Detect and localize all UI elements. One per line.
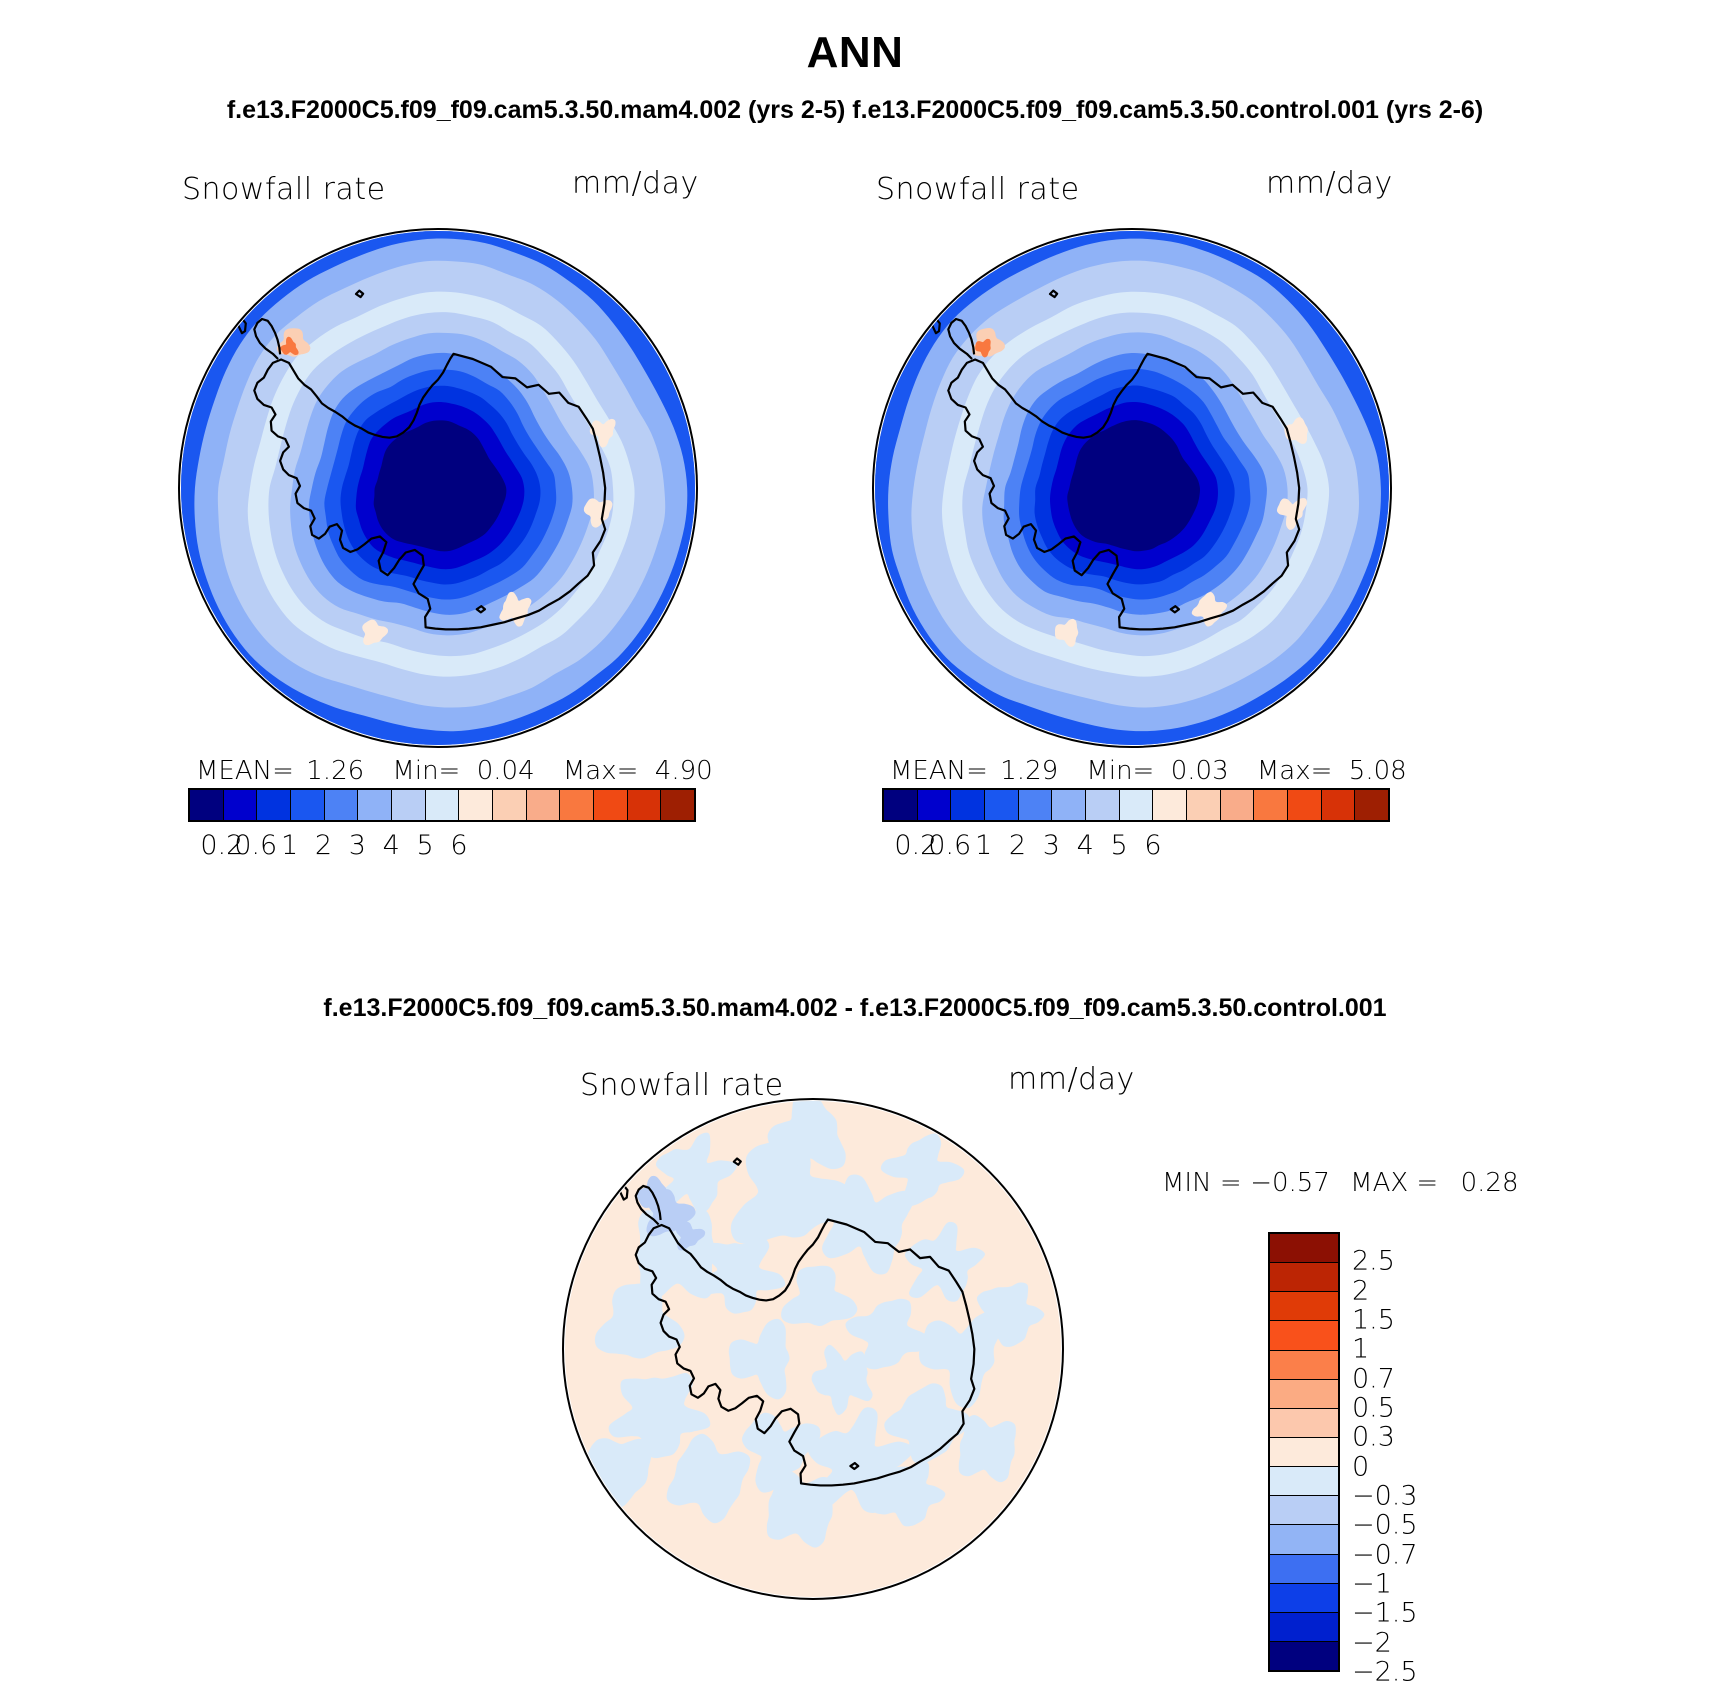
left-min-value: 0.04 [469, 756, 535, 786]
colorbar-swatch [628, 790, 662, 820]
right-max-value: 5.08 [1341, 756, 1407, 786]
colorbar-tick-label: 6 [450, 830, 467, 861]
colorbar-tick-label: 2.5 [1352, 1246, 1395, 1277]
colorbar-swatch [190, 790, 224, 820]
colorbar-swatch [291, 790, 325, 820]
colorbar-swatch [1270, 1555, 1338, 1584]
colorbar-left-labels: 0.20.6123456 [188, 830, 696, 864]
colorbar-tick-label: 0.6 [928, 830, 971, 861]
colorbar-swatch [1270, 1525, 1338, 1554]
colorbar-swatch [426, 790, 460, 820]
colorbar-swatch [493, 790, 527, 820]
colorbar-tick-label: −0.3 [1352, 1481, 1418, 1512]
colorbar-swatch [985, 790, 1019, 820]
colorbar-swatch [257, 790, 291, 820]
colorbar-swatch [1270, 1234, 1338, 1263]
colorbar-swatch [1322, 790, 1356, 820]
colorbar-tick-label: 0.5 [1352, 1393, 1395, 1424]
colorbar-tick-label: 2 [1352, 1275, 1369, 1306]
map-canvas [874, 230, 1390, 746]
colorbar-swatch [1052, 790, 1086, 820]
colorbar-left[interactable] [188, 788, 696, 822]
left-max-label: Max= [563, 756, 639, 786]
colorbar-tick-label: 5 [1110, 830, 1127, 861]
left-min-label: Min= [392, 756, 460, 786]
colorbar-tick-label: −1 [1352, 1569, 1392, 1600]
colorbar-tick-label: 6 [1144, 830, 1161, 861]
colorbar-swatch [1270, 1351, 1338, 1380]
colorbar-right[interactable] [882, 788, 1390, 822]
colorbar-tick-label: 1.5 [1352, 1305, 1395, 1336]
colorbar-tick-label: 0.3 [1352, 1422, 1395, 1453]
right-units-label: mm/day [1266, 166, 1393, 201]
colorbar-swatch [1270, 1292, 1338, 1321]
colorbar-swatch [1270, 1496, 1338, 1525]
right-min-value: 0.03 [1163, 756, 1229, 786]
colorbar-tick-label: 0.6 [234, 830, 277, 861]
colorbar-tick-label: −2.5 [1352, 1657, 1418, 1688]
colorbar-swatch [1187, 790, 1221, 820]
colorbar-tick-label: −1.5 [1352, 1598, 1418, 1629]
colorbar-tick-label: 0.7 [1352, 1363, 1395, 1394]
right-mean-label: MEAN= [890, 756, 988, 786]
right-statistics: MEAN= 1.29 Min= 0.03 Max= 5.08 [890, 756, 1407, 786]
contour-band [959, 1415, 1016, 1482]
colorbar-swatch [594, 790, 628, 820]
colorbar-swatch [884, 790, 918, 820]
colorbar-tick-label: 1 [975, 830, 992, 861]
left-max-value: 4.90 [647, 756, 713, 786]
colorbar-swatch [358, 790, 392, 820]
colorbar-swatch [1270, 1584, 1338, 1613]
colorbar-tick-label: 2 [315, 830, 332, 861]
case-subtitle: f.e13.F2000C5.f09_f09.cam5.3.50.mam4.002… [0, 96, 1710, 125]
colorbar-swatch [325, 790, 359, 820]
diff-minmax: MIN = −0.57 MAX = 0.28 [1162, 1168, 1519, 1198]
colorbar-swatch [1270, 1467, 1338, 1496]
diff-variable-label: Snowfall rate [580, 1068, 784, 1103]
colorbar-swatch [1270, 1263, 1338, 1292]
map-canvas [180, 230, 696, 746]
colorbar-tick-label: −0.5 [1352, 1510, 1418, 1541]
colorbar-tick-label: 4 [1077, 830, 1094, 861]
colorbar-swatch [1270, 1380, 1338, 1409]
colorbar-tick-label: 3 [349, 830, 366, 861]
colorbar-swatch [459, 790, 493, 820]
colorbar-tick-label: 1 [1352, 1334, 1369, 1365]
colorbar-tick-label: 0 [1352, 1451, 1369, 1482]
colorbar-difference[interactable] [1268, 1232, 1340, 1672]
colorbar-swatch [392, 790, 426, 820]
diff-max-value: 0.28 [1447, 1168, 1519, 1198]
left-mean-value: 1.26 [302, 756, 364, 786]
colorbar-swatch [1086, 790, 1120, 820]
right-min-label: Min= [1086, 756, 1154, 786]
colorbar-swatch [560, 790, 594, 820]
colorbar-swatch [224, 790, 258, 820]
colorbar-swatch [918, 790, 952, 820]
colorbar-swatch [1254, 790, 1288, 820]
diff-min-value: −0.57 [1250, 1168, 1330, 1198]
map-difference-snowfall[interactable] [562, 1098, 1064, 1600]
colorbar-tick-label: 4 [383, 830, 400, 861]
colorbar-swatch [1270, 1438, 1338, 1467]
colorbar-tick-label: −0.7 [1352, 1539, 1418, 1570]
colorbar-swatch [1153, 790, 1187, 820]
colorbar-swatch [1270, 1613, 1338, 1642]
left-statistics: MEAN= 1.26 Min= 0.04 Max= 4.90 [196, 756, 713, 786]
difference-subtitle: f.e13.F2000C5.f09_f09.cam5.3.50.mam4.002… [0, 994, 1710, 1023]
colorbar-swatch [661, 790, 694, 820]
colorbar-tick-label: 2 [1009, 830, 1026, 861]
left-units-label: mm/day [572, 166, 699, 201]
right-variable-label: Snowfall rate [876, 172, 1080, 207]
colorbar-tick-label: 5 [416, 830, 433, 861]
colorbar-swatch [1288, 790, 1322, 820]
colorbar-right-labels: 0.20.6123456 [882, 830, 1390, 864]
right-max-label: Max= [1257, 756, 1333, 786]
colorbar-tick-label: 3 [1043, 830, 1060, 861]
colorbar-swatch [1270, 1642, 1338, 1670]
right-mean-value: 1.29 [996, 756, 1058, 786]
left-mean-label: MEAN= [196, 756, 294, 786]
colorbar-swatch [527, 790, 561, 820]
colorbar-swatch [1019, 790, 1053, 820]
page-title: ANN [0, 28, 1710, 78]
diff-units-label: mm/day [1008, 1062, 1135, 1097]
left-variable-label: Snowfall rate [182, 172, 386, 207]
colorbar-tick-label: 1 [281, 830, 298, 861]
colorbar-swatch [951, 790, 985, 820]
colorbar-tick-label: −2 [1352, 1627, 1392, 1658]
colorbar-swatch [1120, 790, 1154, 820]
diff-min-label: MIN = [1162, 1168, 1242, 1198]
map-right-snowfall[interactable] [872, 228, 1392, 748]
colorbar-swatch [1270, 1321, 1338, 1350]
diff-max-label: MAX = [1350, 1168, 1438, 1198]
colorbar-swatch [1270, 1409, 1338, 1438]
colorbar-swatch [1221, 790, 1255, 820]
map-canvas [564, 1100, 1062, 1598]
colorbar-swatch [1355, 790, 1388, 820]
map-left-snowfall[interactable] [178, 228, 698, 748]
